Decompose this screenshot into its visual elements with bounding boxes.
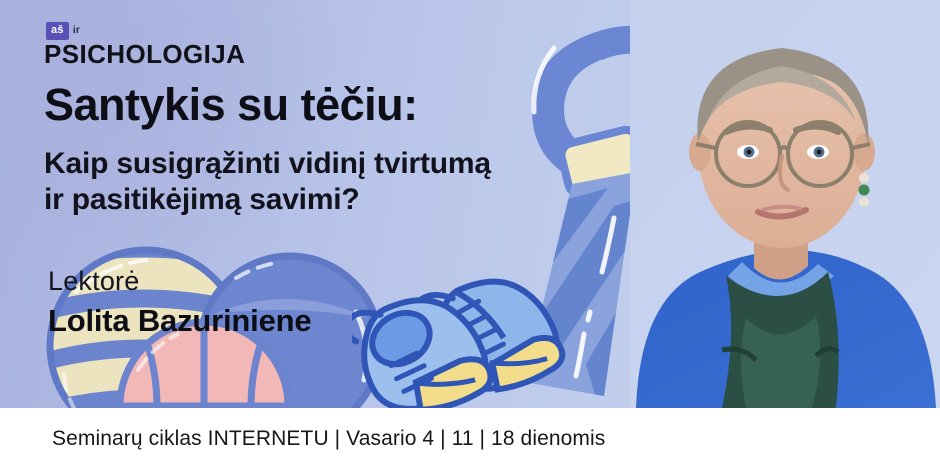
portrait-illustration (630, 0, 940, 408)
dress-shoes-illustration (352, 252, 602, 408)
subtitle-line-1: Kaip susigrąžinti vidinį tvirtumą (44, 146, 491, 183)
lecturer-label: Lektorė (48, 268, 311, 295)
subtitle-line-2: ir pasitikėjimą savimi? (44, 182, 491, 219)
footer-bar: Seminarų ciklas INTERNETU | Vasario 4 | … (0, 408, 940, 470)
lecturer-portrait (630, 0, 940, 408)
brand-logo[interactable]: aš ir PSICHOLOGIJA (44, 22, 245, 67)
headline-block: Santykis su tėčiu: Kaip susigrąžinti vid… (44, 82, 491, 219)
page-title: Santykis su tėčiu: (44, 82, 491, 128)
earring-icon (859, 173, 870, 207)
brand-name: PSICHOLOGIJA (44, 41, 245, 67)
brand-badge-row: aš ir (46, 22, 245, 40)
promo-banner: aš ir PSICHOLOGIJA Santykis su tėčiu: Ka… (0, 0, 940, 470)
lecturer-name: Lolita Bazuriniene (48, 305, 311, 336)
brand-badge-as: aš (46, 22, 69, 40)
brand-badge-ir: ir (73, 26, 80, 36)
lecturer-block: Lektorė Lolita Bazuriniene (48, 268, 311, 336)
footer-schedule-text: Seminarų ciklas INTERNETU | Vasario 4 | … (52, 427, 605, 451)
